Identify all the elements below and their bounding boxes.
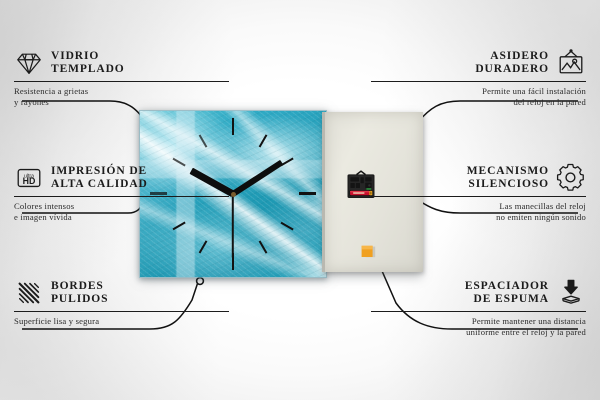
feature-divider (371, 311, 586, 312)
feature-subtitle-line2: uniforme entre el reloj y la pared (371, 327, 586, 338)
feature-title: MECANISMO SILENCIOSO (467, 165, 549, 191)
feature-divider (371, 196, 586, 197)
foam-spacer-pad (361, 245, 376, 259)
feature-title-line2: ALTA CALIDAD (51, 178, 148, 191)
feature-title: BORDES PULIDOS (51, 280, 108, 306)
gear-icon (556, 163, 586, 193)
clock-tick-12 (232, 118, 234, 135)
feature-title-line1: BORDES (51, 280, 108, 293)
ultra-hd-icon: ultra HD (14, 163, 44, 193)
feature-subtitle-line2: e imagen vívida (14, 212, 229, 223)
feature-divider (14, 311, 229, 312)
feature-divider (14, 196, 229, 197)
feature-subtitle: Superficie lisa y segura (14, 316, 229, 327)
diamond-icon (14, 48, 44, 78)
feature-title-line1: MECANISMO (467, 165, 549, 178)
feature-title-line2: TEMPLADO (51, 63, 125, 76)
feature-title: IMPRESIÓN DE ALTA CALIDAD (51, 165, 148, 191)
hanging-picture-frame-icon (556, 48, 586, 78)
feature-subtitle-line1: Permite mantener una distancia (371, 316, 586, 327)
clock-center-cap (231, 192, 236, 197)
feature-subtitle: Permite mantener una distancia uniforme … (371, 316, 586, 337)
feature-subtitle-line1: Permite una fácil instalación (371, 86, 586, 97)
feature-title-line2: DE ESPUMA (465, 293, 549, 306)
feature-title: VIDRIO TEMPLADO (51, 50, 125, 76)
feature-title: ESPACIADOR DE ESPUMA (465, 280, 549, 306)
feature-divider (371, 81, 586, 82)
feature-divider (14, 81, 229, 82)
ultra-hd-icon-large-label: HD (23, 176, 36, 186)
feature-header: BORDES PULIDOS (14, 278, 229, 308)
feature-title-line2: DURADERO (475, 63, 549, 76)
feature-subtitle: Permite una fácil instalación del reloj … (371, 86, 586, 107)
feature-header: ESPACIADOR DE ESPUMA (371, 278, 586, 308)
feature-vidrio-templado: VIDRIO TEMPLADO Resistencia a grietas y … (14, 48, 229, 107)
arrow-onto-foam-layers-icon (556, 278, 586, 308)
clock-tick-3 (299, 192, 316, 195)
feature-subtitle-line1: Superficie lisa y segura (14, 316, 229, 327)
feature-subtitle-line1: Colores intensos (14, 201, 229, 212)
feature-subtitle-line1: Las manecillas del reloj (371, 201, 586, 212)
feature-header: ultra HD IMPRESIÓN DE ALTA CALIDAD (14, 163, 229, 193)
feature-mecanismo-silencioso: MECANISMO SILENCIOSO Las manecillas del … (371, 163, 586, 222)
feature-subtitle-line2: no emiten ningún sonido (371, 212, 586, 223)
feature-title-line2: PULIDOS (51, 293, 108, 306)
feature-header: MECANISMO SILENCIOSO (371, 163, 586, 193)
feature-title-line1: VIDRIO (51, 50, 125, 63)
feature-title: ASIDERO DURADERO (475, 50, 549, 76)
infographic-canvas: VIDRIO TEMPLADO Resistencia a grietas y … (0, 0, 600, 400)
feature-title-line1: ESPACIADOR (465, 280, 549, 293)
feature-header: VIDRIO TEMPLADO (14, 48, 229, 78)
feature-asidero-duradero: ASIDERO DURADERO Permite una fácil insta… (371, 48, 586, 107)
polished-edge-lines-icon (14, 278, 44, 308)
feature-espaciador-de-espuma: ESPACIADOR DE ESPUMA Permite mantener un… (371, 278, 586, 337)
feature-subtitle-line2: del reloj en la pared (371, 97, 586, 108)
feature-bordes-pulidos: BORDES PULIDOS Superficie lisa y segura (14, 278, 229, 327)
feature-title-line2: SILENCIOSO (467, 178, 549, 191)
feature-title-line1: IMPRESIÓN DE (51, 165, 148, 178)
feature-impresion-alta-calidad: ultra HD IMPRESIÓN DE ALTA CALIDAD Color… (14, 163, 229, 222)
feature-title-line1: ASIDERO (475, 50, 549, 63)
feature-header: ASIDERO DURADERO (371, 48, 586, 78)
feature-subtitle-line1: Resistencia a grietas (14, 86, 229, 97)
feature-subtitle: Resistencia a grietas y rayones (14, 86, 229, 107)
feature-subtitle: Colores intensos e imagen vívida (14, 201, 229, 222)
feature-subtitle: Las manecillas del reloj no emiten ningú… (371, 201, 586, 222)
feature-subtitle-line2: y rayones (14, 97, 229, 108)
clock-second-hand (232, 194, 234, 258)
